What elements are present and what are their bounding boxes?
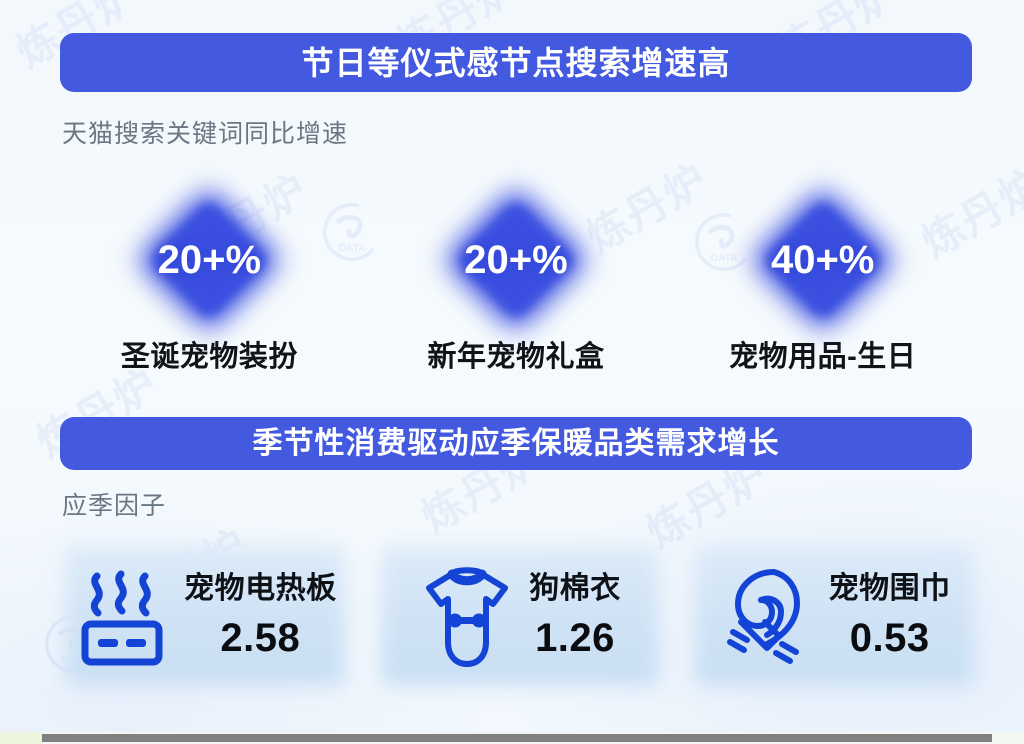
search-badge-item: 20+% 圣诞宠物装扮	[56, 182, 363, 388]
badge-value: 20+%	[158, 240, 261, 280]
diamond-badge-icon: 20+%	[129, 182, 289, 337]
badge-label: 宠物用品-生日	[729, 343, 916, 372]
card-value: 1.26	[535, 618, 615, 658]
infographic-page: 炼丹炉 炼丹炉 炼丹炉 炼丹炉 炼丹炉 炼丹炉 炼丹炉 炼丹炉 炼丹炉 炼丹炉 …	[0, 0, 1024, 744]
card-text-block: 宠物电热板 2.58	[184, 574, 337, 658]
card-name: 狗棉衣	[529, 574, 621, 604]
card-value: 2.58	[220, 618, 300, 658]
search-badge-item: 20+% 新年宠物礼盒	[363, 182, 670, 388]
card-text-block: 狗棉衣 1.26	[529, 574, 621, 658]
seasonal-subtitle: 应季因子	[62, 494, 166, 519]
horizontal-scrollbar-track[interactable]	[0, 732, 1024, 744]
search-section-banner: 节日等仪式感节点搜索增速高	[60, 33, 972, 92]
card-name: 宠物围巾	[829, 574, 951, 604]
search-banner-title: 节日等仪式感节点搜索增速高	[301, 47, 730, 79]
scarf-icon	[719, 560, 815, 672]
search-badge-row: 20+% 圣诞宠物装扮 20+% 新年宠物礼盒 40+% 宠物用品-生日	[56, 182, 976, 388]
seasonal-card-row: 宠物电热板 2.58 狗棉衣 1.26	[60, 540, 980, 692]
seasonal-card: 狗棉衣 1.26	[375, 540, 666, 692]
dog-jersey-icon	[419, 560, 515, 672]
badge-label: 新年宠物礼盒	[428, 343, 605, 372]
seasonal-banner-title: 季节性消费驱动应季保暖品类需求增长	[253, 429, 780, 459]
card-value: 0.53	[850, 618, 930, 658]
seasonal-card: 宠物电热板 2.58	[60, 540, 351, 692]
scrollbar-left-segment	[0, 732, 42, 744]
heating-pad-icon	[74, 560, 170, 672]
seasonal-card: 宠物围巾 0.53	[689, 540, 980, 692]
diamond-badge-icon: 40+%	[743, 182, 903, 337]
card-name: 宠物电热板	[184, 574, 337, 604]
badge-label: 圣诞宠物装扮	[121, 343, 298, 372]
badge-value: 40+%	[771, 240, 874, 280]
horizontal-scrollbar-thumb[interactable]	[42, 734, 992, 742]
card-text-block: 宠物围巾 0.53	[829, 574, 951, 658]
badge-value: 20+%	[464, 240, 567, 280]
search-subtitle: 天猫搜索关键词同比增速	[62, 122, 348, 147]
search-badge-item: 40+% 宠物用品-生日	[669, 182, 976, 388]
seasonal-section-banner: 季节性消费驱动应季保暖品类需求增长	[60, 417, 972, 470]
diamond-badge-icon: 20+%	[436, 182, 596, 337]
